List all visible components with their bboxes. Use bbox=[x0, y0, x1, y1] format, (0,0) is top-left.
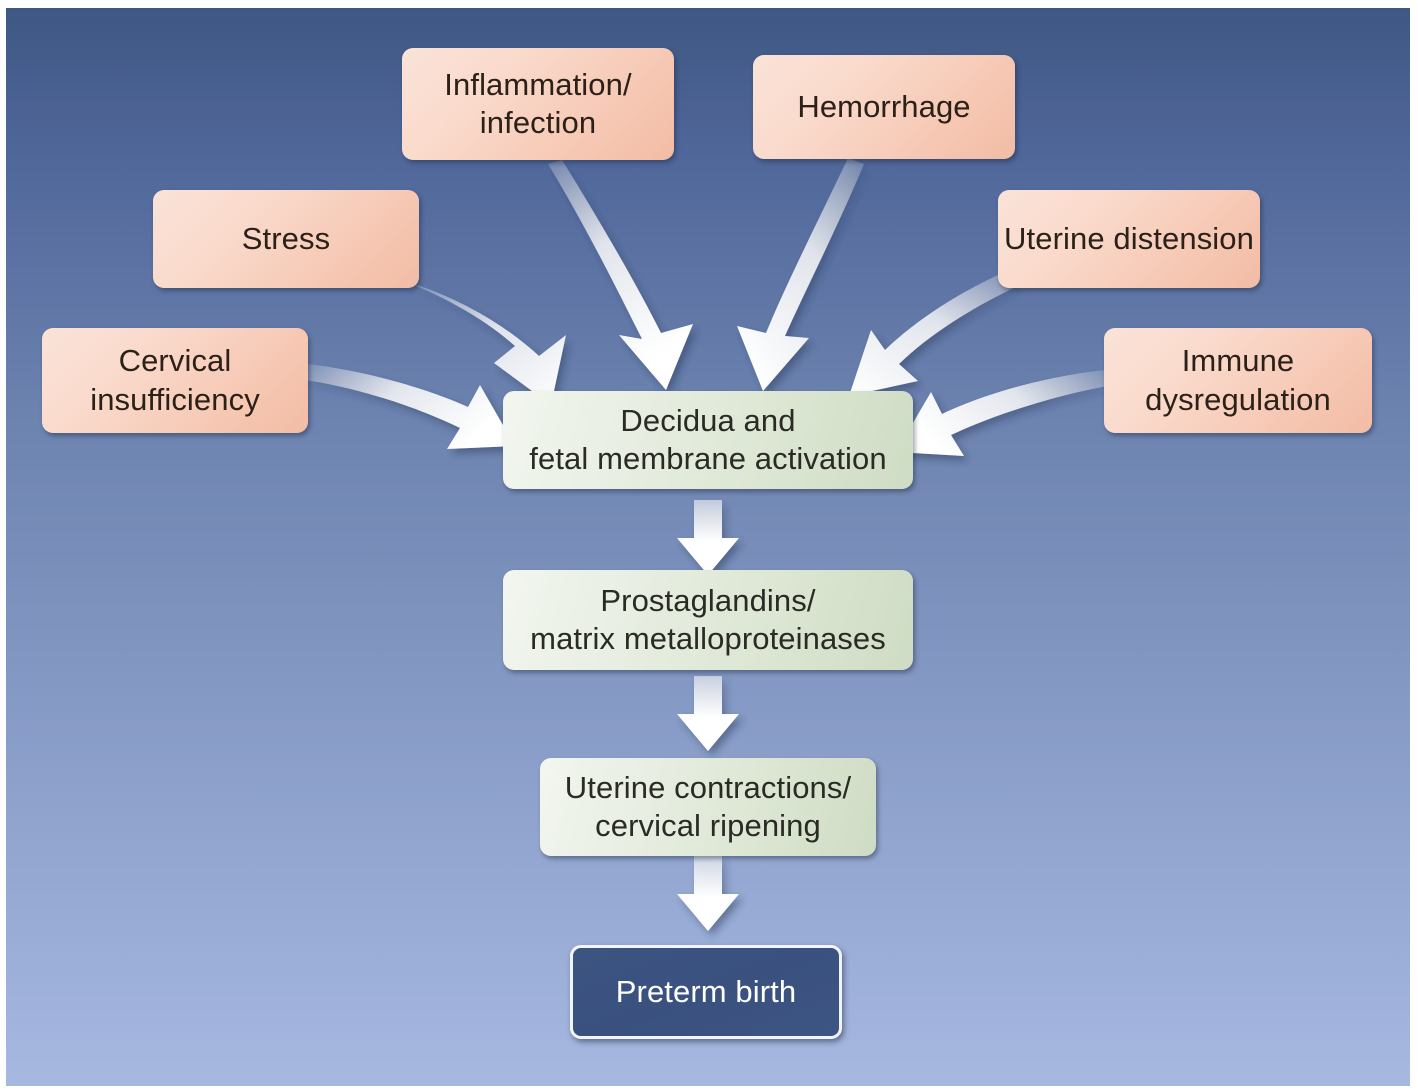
node-uterine-distension[interactable]: Uterine distension bbox=[998, 190, 1260, 288]
arrow-prostaglandins-to-contractions bbox=[677, 676, 739, 751]
node-label: Uterine contractions/ cervical ripening bbox=[565, 769, 851, 846]
arrow-layer bbox=[6, 8, 1410, 1086]
diagram-canvas: Inflammation/ infection Hemorrhage Stres… bbox=[6, 8, 1410, 1086]
arrow-contractions-to-preterm-birth bbox=[677, 856, 739, 931]
node-label: Inflammation/ infection bbox=[444, 66, 631, 143]
node-label: Stress bbox=[242, 220, 330, 258]
node-label: Prostaglandins/ matrix metalloproteinase… bbox=[530, 582, 886, 659]
node-label: Preterm birth bbox=[616, 973, 796, 1011]
node-cervical-insufficiency[interactable]: Cervical insufficiency bbox=[42, 328, 308, 433]
arrow-immune-dysregulation-to-decidua bbox=[896, 370, 1107, 456]
node-prostaglandins-mmp[interactable]: Prostaglandins/ matrix metalloproteinase… bbox=[503, 570, 913, 670]
node-label: Cervical insufficiency bbox=[90, 342, 260, 419]
arrow-cervical-insufficiency-to-decidua bbox=[306, 364, 515, 449]
arrow-inflammation-to-decidua bbox=[548, 160, 693, 390]
node-stress[interactable]: Stress bbox=[153, 190, 419, 288]
node-uterine-contractions[interactable]: Uterine contractions/ cervical ripening bbox=[540, 758, 876, 856]
arrow-uterine-distension-to-decidua bbox=[849, 271, 1018, 396]
node-preterm-birth[interactable]: Preterm birth bbox=[570, 945, 842, 1039]
node-immune-dysregulation[interactable]: Immune dysregulation bbox=[1104, 328, 1372, 433]
arrow-hemorrhage-to-decidua bbox=[737, 158, 864, 391]
arrow-stress-to-decidua bbox=[409, 283, 566, 405]
node-label: Immune dysregulation bbox=[1145, 342, 1331, 419]
node-hemorrhage[interactable]: Hemorrhage bbox=[753, 55, 1015, 159]
node-label: Decidua and fetal membrane activation bbox=[529, 402, 886, 479]
node-decidua-activation[interactable]: Decidua and fetal membrane activation bbox=[503, 391, 913, 489]
node-label: Hemorrhage bbox=[797, 88, 970, 126]
figure-root: Inflammation/ infection Hemorrhage Stres… bbox=[0, 0, 1418, 1092]
node-label: Uterine distension bbox=[1004, 220, 1254, 258]
arrow-decidua-to-prostaglandins bbox=[677, 500, 739, 575]
node-inflammation-infection[interactable]: Inflammation/ infection bbox=[402, 48, 674, 160]
